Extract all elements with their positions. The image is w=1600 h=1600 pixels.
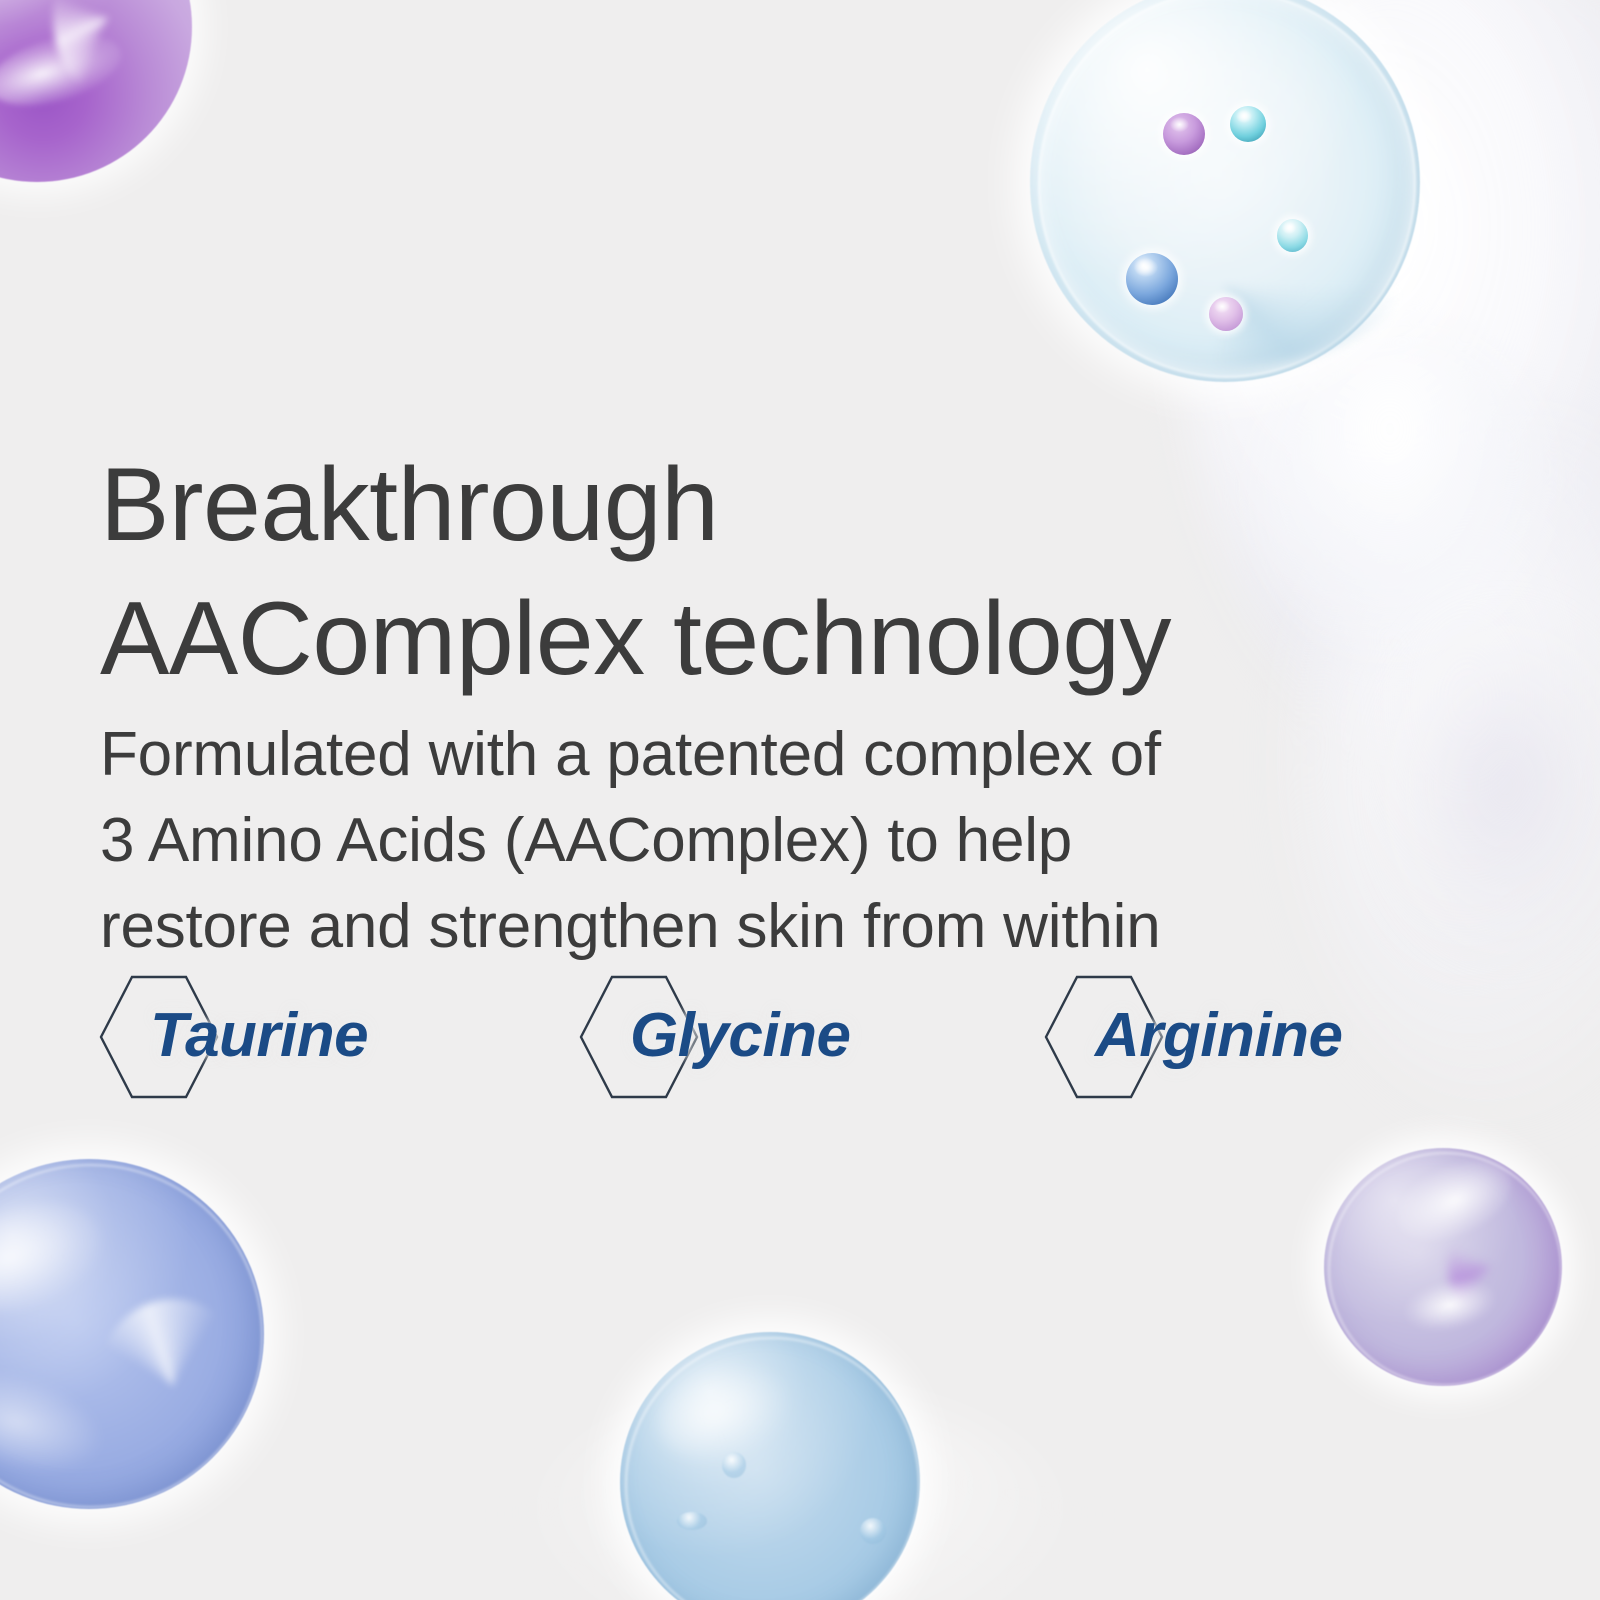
marketing-banner: Breakthrough AAComplex technology Formul…	[0, 0, 1600, 1600]
content-layer: Breakthrough AAComplex technology Formul…	[0, 0, 1600, 1600]
ingredient-badge-label: Glycine	[630, 986, 851, 1086]
ingredient-badge-label: Taurine	[150, 986, 368, 1086]
ingredient-badge-row: Taurine Glycine Arginine	[0, 968, 1600, 1108]
subheading-description: Formulated with a patented complex of 3 …	[100, 712, 1390, 970]
page-title: Breakthrough AAComplex technology	[100, 438, 1470, 706]
ingredient-badge-label: Arginine	[1095, 986, 1342, 1086]
